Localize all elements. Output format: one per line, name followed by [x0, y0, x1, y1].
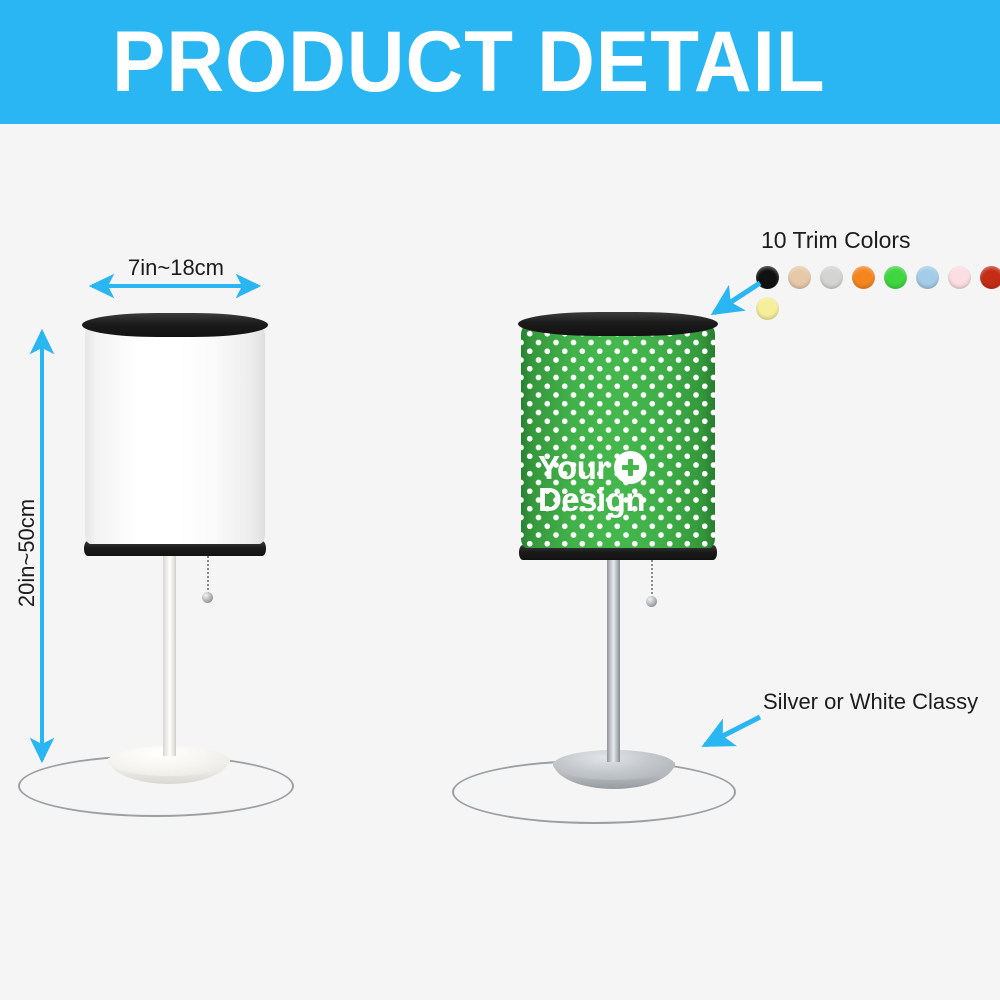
- width-dimension-label: 7in~18cm: [128, 255, 224, 281]
- swatch-green[interactable]: [884, 266, 907, 289]
- green-lamp-top-trim: [518, 312, 718, 336]
- trim-colors-title: 10 Trim Colors: [761, 227, 911, 254]
- product-detail-page: PRODUCT DETAIL 7in~18cm 20in~50cm 10 Tri…: [0, 0, 1000, 1000]
- plus-circle-icon: [614, 451, 647, 484]
- swatch-pink[interactable]: [948, 266, 971, 289]
- green-lamp-pull-chain[interactable]: [651, 560, 653, 600]
- artwork-line-2: Design: [538, 484, 647, 516]
- swatch-red[interactable]: [980, 266, 1000, 289]
- swatch-black[interactable]: [756, 266, 779, 289]
- swatch-light-blue[interactable]: [916, 266, 939, 289]
- swatch-yellow[interactable]: [756, 297, 779, 320]
- header-banner: PRODUCT DETAIL: [0, 0, 1000, 124]
- swatch-light-gray[interactable]: [820, 266, 843, 289]
- white-lamp-pull-chain[interactable]: [207, 556, 209, 596]
- artwork-line-1-row: Your: [538, 451, 647, 484]
- base-callout-arrow: [705, 717, 760, 745]
- height-dimension-label: 20in~50cm: [14, 493, 40, 613]
- green-lamp-pole: [607, 560, 620, 762]
- swatch-orange[interactable]: [852, 266, 875, 289]
- page-title: PRODUCT DETAIL: [112, 19, 826, 105]
- base-finish-note: Silver or White Classy: [763, 689, 978, 715]
- swatch-row-1: [756, 266, 1000, 289]
- swatch-row-2: [756, 297, 1000, 320]
- green-lamp-shade: Your Design: [521, 325, 715, 548]
- green-lamp-chain-bead[interactable]: [646, 596, 657, 607]
- artwork-line-1: Your: [538, 452, 609, 484]
- white-lamp-shade: [85, 326, 265, 544]
- shade-artwork: Your Design: [538, 451, 647, 516]
- trim-color-swatches: [756, 266, 1000, 328]
- white-lamp-chain-bead[interactable]: [202, 592, 213, 603]
- trim-callout-arrow: [714, 283, 760, 313]
- white-lamp-pole: [163, 556, 176, 756]
- white-lamp-top-trim: [82, 313, 268, 337]
- swatch-tan[interactable]: [788, 266, 811, 289]
